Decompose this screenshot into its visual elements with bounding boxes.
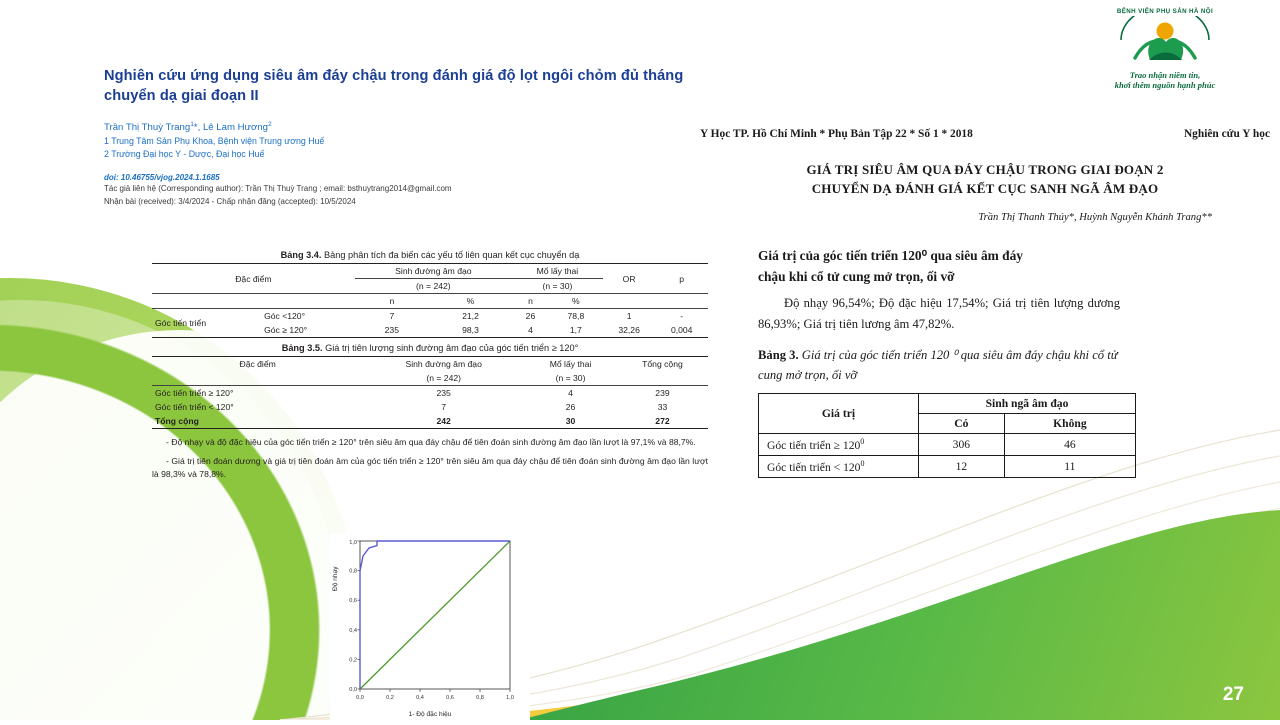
svg-text:0,4: 0,4	[349, 628, 357, 634]
t34-col-p2: %	[549, 294, 603, 309]
pt3-r2-label-sup: 0	[860, 459, 864, 468]
table-3-4: Đặc điểm Sinh đường âm đạo Mổ lấy thai O…	[152, 263, 708, 338]
paper-body-text: Độ nhạy 96,54%; Độ đặc hiệu 17,54%; Giá …	[700, 293, 1120, 335]
t35-head-c3: Tổng cộng	[617, 357, 708, 372]
table-row: Góc tiến triển ≥ 120° 235 4 239	[152, 386, 708, 401]
pt3-r1-label-sup: 0	[860, 437, 864, 446]
pt3-r1-c1: 306	[919, 434, 1005, 456]
paper-authors: Trần Thị Thanh Thúy*, Huỳnh Nguyễn Khánh…	[700, 212, 1270, 223]
table-row: n % n %	[152, 294, 708, 309]
svg-text:0,8: 0,8	[476, 695, 484, 701]
paper-table-3: Giá trị Sinh ngã âm đạo Có Không Góc tiế…	[758, 393, 1136, 478]
article-authors: Trần Thị Thuỳ Trang1*, Lê Lam Hương2	[104, 118, 764, 135]
t34-r2-n1: 235	[355, 323, 429, 338]
t35-r2-c3: 33	[617, 400, 708, 414]
paper-running-head: Y Học TP. Hồ Chí Minh * Phụ Bản Tập 22 *…	[700, 128, 1270, 140]
t35-r2-c1: 7	[363, 400, 524, 414]
table-3-5-caption: Bảng 3.5. Giá trị tiên lượng sinh đường …	[152, 343, 708, 353]
left-tables-block: Bảng 3.4. Bảng phân tích đa biến các yếu…	[152, 250, 708, 480]
journal-article-header: Nghiên cứu ứng dụng siêu âm đáy chậu tro…	[104, 66, 764, 209]
t34-r2-p1: 98,3	[429, 323, 512, 338]
t34-r1-p2: 78,8	[549, 309, 603, 324]
svg-text:0,8: 0,8	[349, 569, 357, 575]
t35-r1-c2: 4	[524, 386, 617, 401]
paper-table-caption: Bảng 3. Giá trị của góc tiến triển 120 ⁰…	[700, 345, 1130, 385]
svg-text:0,6: 0,6	[349, 598, 357, 604]
table-3-4-caption-text: Bảng phân tích đa biến các yếu tố liên q…	[321, 250, 579, 260]
svg-text:1,0: 1,0	[349, 540, 357, 546]
t34-head-group-1-sub: (n = 242)	[355, 279, 512, 294]
table-3-4-caption: Bảng 3.4. Bảng phân tích đa biến các yếu…	[152, 250, 708, 260]
svg-text:0,0: 0,0	[356, 695, 364, 701]
corresponding-author-text: Tác giả liên hệ (Corresponding author): …	[104, 183, 764, 196]
logo-slogan-line2: khơi thêm nguồn hạnh phúc	[1070, 80, 1260, 90]
svg-text:0,0: 0,0	[349, 687, 357, 693]
t34-r2-n2: 4	[512, 323, 549, 338]
t35-r3-c2: 30	[524, 414, 617, 429]
t35-head-blank	[152, 371, 363, 386]
t35-head-feature: Đặc điểm	[152, 357, 363, 372]
t34-col-n1: n	[355, 294, 429, 309]
logo-slogan-line1: Trao nhận niềm tin,	[1070, 70, 1260, 80]
author-2-sup: 2	[268, 121, 272, 128]
received-accepted-text: Nhận bài (received): 3/4/2024 - Chấp nhậ…	[104, 196, 764, 209]
table-3-5-caption-label: Bảng 3.5.	[282, 343, 323, 353]
table-3-5-note-2: - Giá trị tiên đoán dương và giá trị tiê…	[152, 455, 708, 480]
logo-arc-text: BỆNH VIỆN PHỤ SẢN HÀ NỘI	[1070, 8, 1260, 16]
svg-text:0,6: 0,6	[446, 695, 454, 701]
t34-col-n2: n	[512, 294, 549, 309]
page-number: 27	[1223, 684, 1244, 706]
pt3-head-value: Giá trị	[759, 394, 919, 434]
t35-head-c2: Mổ lấy thai	[524, 357, 617, 372]
t35-head-c2-sub: (n = 30)	[524, 371, 617, 386]
svg-text:0,4: 0,4	[416, 695, 424, 701]
t34-head-group-2: Mổ lấy thai	[512, 264, 603, 279]
t35-r3-label: Tổng cộng	[152, 414, 363, 429]
pt3-r2-c1: 12	[919, 455, 1005, 477]
t34-r1-n2: 26	[512, 309, 549, 324]
t34-r2-label: Góc ≥ 120°	[261, 323, 355, 338]
table-row: Góc tiến triển Góc <120° 7 21,2 26 78,8 …	[152, 309, 708, 324]
t34-r2-p: 0,004	[655, 323, 708, 338]
logo-mark	[1070, 16, 1260, 70]
pt3-r2-label-text: Góc tiến triển < 120	[767, 461, 860, 474]
pt3-r1-c2: 46	[1004, 434, 1135, 456]
table-3-5-caption-text: Giá trị tiên lượng sinh đường âm đạo của…	[323, 343, 579, 353]
paper-table-wrap: Giá trị Sinh ngã âm đạo Có Không Góc tiế…	[700, 393, 1270, 478]
scanned-paper-panel: Y Học TP. Hồ Chí Minh * Phụ Bản Tập 22 *…	[700, 128, 1270, 478]
paper-title-line2: CHUYỂN DẠ ĐÁNH GIÁ KẾT CỤC SANH NGÃ ÂM Đ…	[700, 179, 1270, 198]
table-row: (n = 242) (n = 30)	[152, 371, 708, 386]
pt3-r2-label: Góc tiến triển < 1200	[759, 455, 919, 477]
table-row: Góc tiến triển ≥ 1200 306 46	[759, 434, 1136, 456]
t35-r2-c2: 26	[524, 400, 617, 414]
article-title-line2: chuyển dạ giai đoạn II	[104, 86, 764, 106]
running-head-right: Nghiên cứu Y học	[1184, 128, 1270, 140]
pt3-head-no: Không	[1004, 414, 1135, 434]
roc-y-axis-label: Độ nhạy	[332, 566, 339, 591]
t34-r1-p1: 21,2	[429, 309, 512, 324]
roc-curve-chart: 0,0 0,2 0,4 0,6 0,8 1,0 0,0 0,2 0,4 0,6 …	[330, 533, 530, 720]
table-row: Góc tiến triển < 1200 12 11	[759, 455, 1136, 477]
table-row: Giá trị Sinh ngã âm đạo	[759, 394, 1136, 414]
paper-title-line1: GIÁ TRỊ SIÊU ÂM QUA ĐÁY CHẬU TRONG GIAI …	[700, 160, 1270, 179]
paper-table-caption-text: Giá trị của góc tiến triển 120 ⁰ qua siê…	[758, 348, 1118, 382]
t34-head-feature: Đặc điểm	[152, 264, 355, 294]
t35-r1-c1: 235	[363, 386, 524, 401]
author-1: Trần Thị Thuỳ Trang	[104, 122, 190, 133]
t34-row-group: Góc tiến triển	[152, 309, 261, 338]
t35-head-c1-sub: (n = 242)	[363, 371, 524, 386]
t34-r1-p: -	[655, 309, 708, 324]
table-row: Tổng cộng 242 30 272	[152, 414, 708, 429]
t34-head-or: OR	[603, 264, 656, 294]
svg-text:0,2: 0,2	[349, 657, 357, 663]
author-2: *, Lê Lam Hương	[194, 122, 268, 133]
t35-r1-label: Góc tiến triển ≥ 120°	[152, 386, 363, 401]
pt3-head-group: Sinh ngã âm đạo	[919, 394, 1136, 414]
t35-head-c3-sub	[617, 371, 708, 386]
table-3-5: Đặc điểm Sinh đường âm đạo Mổ lấy thai T…	[152, 356, 708, 429]
hospital-logo: BỆNH VIỆN PHỤ SẢN HÀ NỘI Trao nhận niềm …	[1070, 8, 1260, 104]
paper-section-heading-line1: Giá trị của góc tiến triển 120⁰ qua siêu…	[700, 245, 1130, 266]
t34-head-group-1: Sinh đường âm đạo	[355, 264, 512, 279]
table-row: Đặc điểm Sinh đường âm đạo Mổ lấy thai T…	[152, 357, 708, 372]
paper-table-caption-label: Bảng 3.	[758, 348, 799, 362]
table-3-4-caption-label: Bảng 3.4.	[281, 250, 322, 260]
t34-r1-or: 1	[603, 309, 656, 324]
table-3-5-note-1: - Độ nhạy và độ đặc hiệu của góc tiến tr…	[152, 436, 708, 448]
t35-r1-c3: 239	[617, 386, 708, 401]
doi-text: doi: 10.46755/vjog.2024.1.1685	[104, 173, 764, 182]
table-row: Đặc điểm Sinh đường âm đạo Mổ lấy thai O…	[152, 264, 708, 279]
t34-blank-4	[655, 294, 708, 309]
svg-text:1,0: 1,0	[506, 695, 514, 701]
table-row: Góc tiến triển < 120° 7 26 33	[152, 400, 708, 414]
pt3-r2-c2: 11	[1004, 455, 1135, 477]
running-head-left: Y Học TP. Hồ Chí Minh * Phụ Bản Tập 22 *…	[700, 128, 973, 140]
t34-r1-n1: 7	[355, 309, 429, 324]
pt3-head-yes: Có	[919, 414, 1005, 434]
pt3-r1-label-text: Góc tiến triển ≥ 120	[767, 439, 860, 452]
t34-blank-2	[261, 294, 355, 309]
pt3-r1-label: Góc tiến triển ≥ 1200	[759, 434, 919, 456]
affiliation-1-text: Trung Tâm Sản Phụ Khoa, Bệnh viện Trung …	[109, 136, 324, 146]
t35-head-c1: Sinh đường âm đạo	[363, 357, 524, 372]
affiliation-1: 1 Trung Tâm Sản Phụ Khoa, Bệnh viện Trun…	[104, 135, 764, 148]
affiliation-2-text: Trường Đại học Y - Dược, Đại học Huế	[109, 149, 265, 159]
t34-blank	[152, 294, 261, 309]
paper-section-heading-line2: chậu khi cổ tử cung mở trọn, ối vỡ	[700, 266, 1130, 287]
t34-r2-p2: 1,7	[549, 323, 603, 338]
t34-blank-3	[603, 294, 656, 309]
t35-r3-c3: 272	[617, 414, 708, 429]
t35-r2-label: Góc tiến triển < 120°	[152, 400, 363, 414]
t34-head-group-2-sub: (n = 30)	[512, 279, 603, 294]
t35-r3-c1: 242	[363, 414, 524, 429]
article-title-line1: Nghiên cứu ứng dụng siêu âm đáy chậu tro…	[104, 66, 764, 86]
t34-r1-label: Góc <120°	[261, 309, 355, 324]
affiliation-2: 2 Trường Đại học Y - Dược, Đại học Huế	[104, 148, 764, 161]
t34-head-p: p	[655, 264, 708, 294]
t34-r2-or: 32,26	[603, 323, 656, 338]
roc-x-axis-label: 1- Độ đặc hiệu	[330, 711, 530, 718]
t34-col-p1: %	[429, 294, 512, 309]
svg-text:0,2: 0,2	[386, 695, 394, 701]
